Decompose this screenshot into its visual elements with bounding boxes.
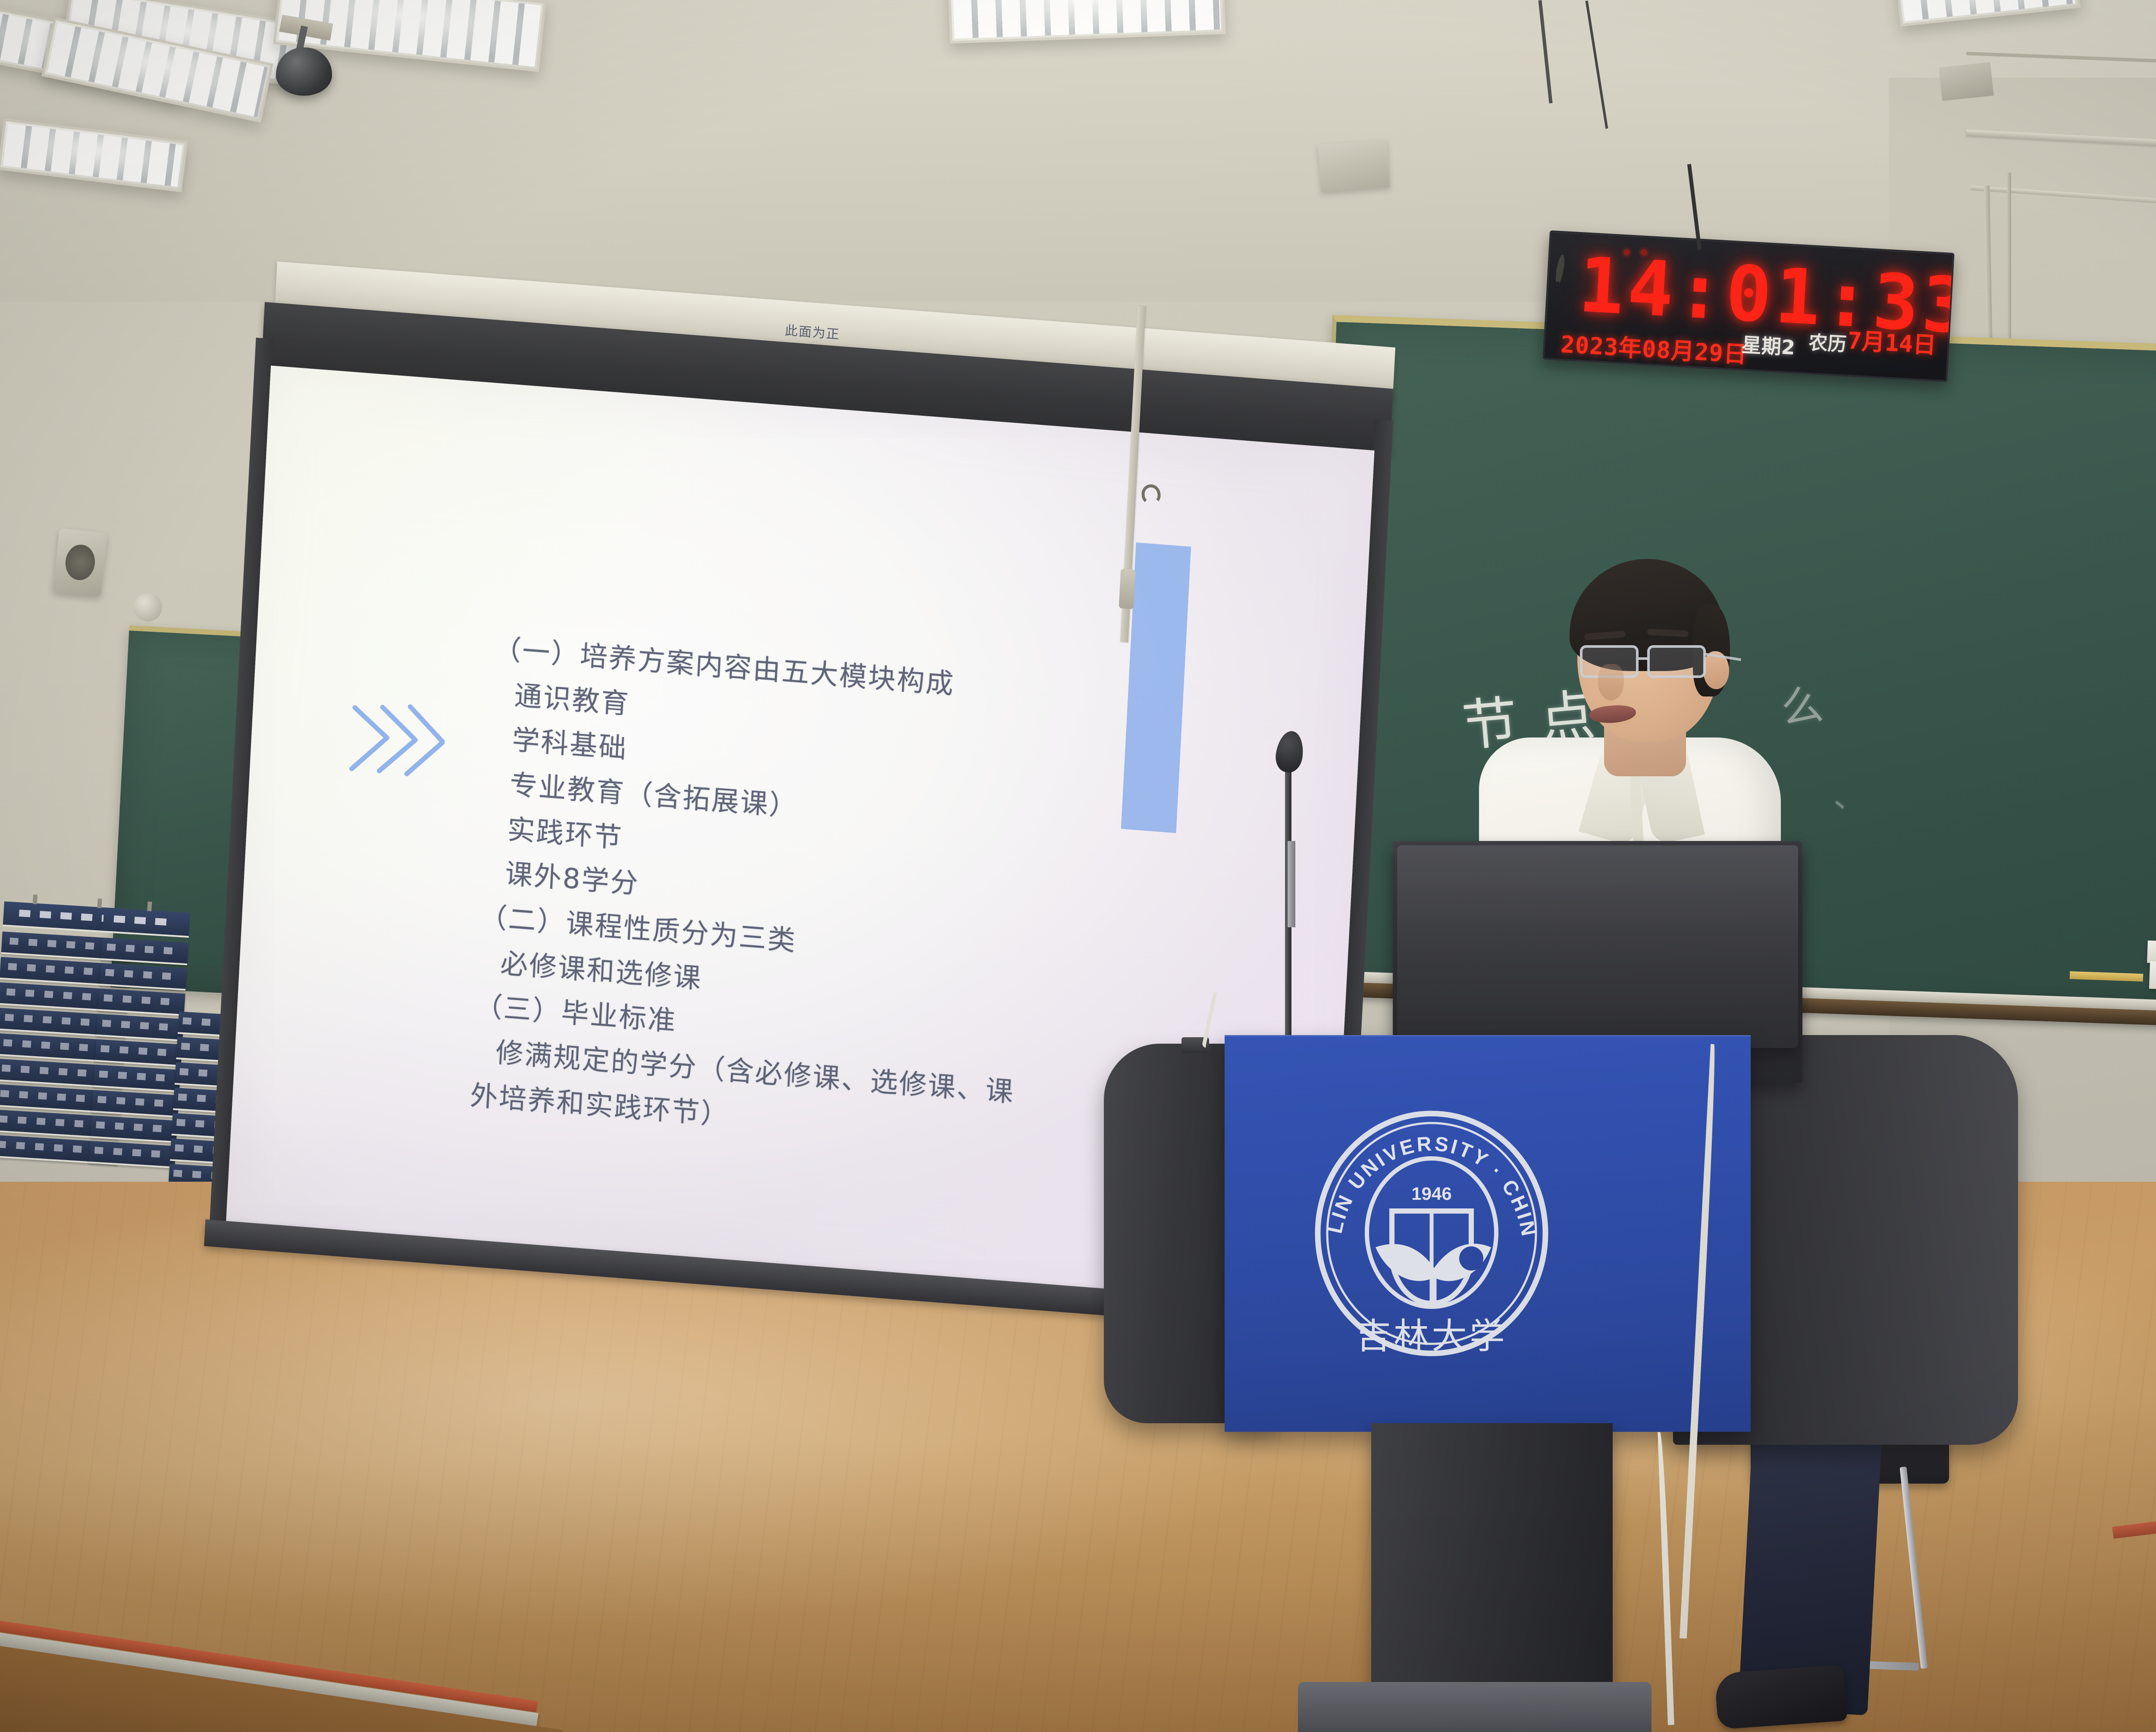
digital-wall-clock: 14:01:33 2023年08月29日 星期2 农历 7月14日 [1542,230,1954,382]
shoe [1714,1665,1847,1730]
card-board-row [90,1115,178,1143]
dome-camera-icon [276,47,332,96]
clock-lunar-label: 农历 [1808,327,1847,357]
card-board-row [95,1039,182,1067]
gooseneck-mic-stem-collar [1288,841,1295,927]
eyeglass-bridge [1639,657,1649,660]
wall-knob [134,593,162,621]
card-board-row [101,938,188,965]
svg-text:吉林大学: 吉林大学 [1356,1316,1507,1357]
screen-pull-handle[interactable] [1119,568,1136,609]
jilin-university-seal: JILIN UNIVERSITY · CHINA 1946 吉林大学 [1311,1108,1552,1359]
card-board-header [103,907,190,938]
chevron-double-right-icon [343,691,447,785]
chalk-writing-tertiary: 、 [1830,771,1865,817]
clock-lunar-date: 7月14日 [1847,321,1937,360]
card-board-row [93,1064,181,1092]
ceiling-mount-box [1318,140,1390,192]
card-board-row [100,963,187,991]
podium-base [1298,1682,1651,1732]
svg-text:1946: 1946 [1411,1183,1451,1204]
wall-speaker-icon [53,528,108,597]
classroom-scene: 节点 么 、 14:01:33 2023年08月29日 星期2 农历 7月14日 [0,0,2156,1732]
blackboard-eraser [2149,961,2156,990]
screen-casing-label: 此面为正 [784,320,840,343]
nose [1598,664,1624,700]
svg-text:JILIN UNIVERSITY · CHINA: JILIN UNIVERSITY · CHINA [1311,1108,1541,1240]
card-board-row [98,988,185,1016]
card-board-row [88,1141,176,1168]
clock-weekday: 星期2 [1741,329,1796,361]
ceiling-mount-box [1939,62,1993,101]
podium-top-shelf [1397,845,1798,1048]
card-board-row [96,1014,184,1042]
eyeglass-lens [1647,645,1706,678]
blackboard-eraser [2147,941,2156,964]
card-board-row [92,1090,179,1117]
eyeglass-temple [1704,653,1741,661]
